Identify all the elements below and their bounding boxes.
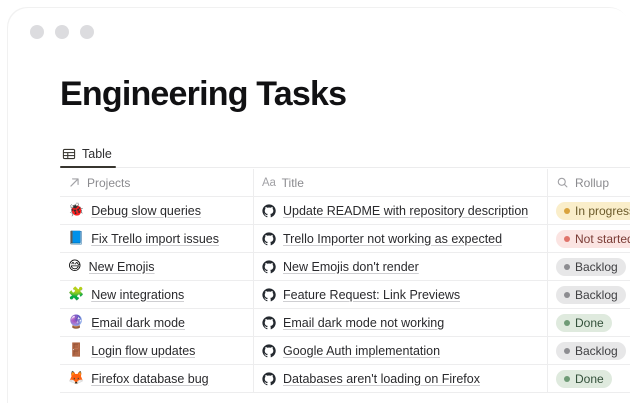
app-window: Engineering Tasks Table: [8, 8, 630, 404]
github-icon: [262, 204, 276, 218]
cell-title[interactable]: Trello Importer not working as expected: [254, 225, 548, 252]
project-emoji-icon: 🚪: [68, 344, 84, 357]
cell-rollup[interactable]: Not started: [548, 225, 630, 252]
status-badge: Backlog: [556, 286, 626, 304]
tab-bar-baseline: [60, 167, 630, 168]
relation-arrow-icon: [68, 176, 81, 189]
project-emoji-icon: 🦊: [68, 372, 84, 385]
status-badge: Backlog: [556, 258, 626, 276]
column-header-rollup-label: Rollup: [575, 176, 609, 190]
table-row: 🔮 Email dark mode Email dark mode not wo…: [60, 309, 630, 337]
view-tab-bar: Table: [60, 140, 630, 168]
status-label: Not started: [575, 232, 630, 246]
page-title: Engineering Tasks: [60, 74, 346, 115]
cell-project[interactable]: 🦊 Firefox database bug: [60, 365, 254, 392]
status-label: In progress: [575, 204, 630, 218]
tasks-table: Projects Aa Title Rollup 🐞 Debug slow qu…: [60, 169, 630, 393]
cell-rollup[interactable]: Done: [548, 365, 630, 392]
cell-rollup[interactable]: Backlog: [548, 253, 630, 280]
cell-title[interactable]: Feature Request: Link Previews: [254, 281, 548, 308]
cell-project[interactable]: 🐞 Debug slow queries: [60, 197, 254, 224]
title-link[interactable]: Databases aren't loading on Firefox: [283, 372, 480, 386]
window-close-dot[interactable]: [30, 25, 44, 39]
status-dot-icon: [564, 236, 570, 242]
project-emoji-icon: 😅: [68, 260, 82, 273]
github-icon: [262, 288, 276, 302]
title-link[interactable]: Feature Request: Link Previews: [283, 288, 460, 302]
table-row: 📘 Fix Trello import issues Trello Import…: [60, 225, 630, 253]
cell-rollup[interactable]: Done: [548, 309, 630, 336]
status-label: Backlog: [575, 344, 618, 358]
window-maximize-dot[interactable]: [80, 25, 94, 39]
table-header-row: Projects Aa Title Rollup: [60, 169, 630, 197]
cell-title[interactable]: Google Auth implementation: [254, 337, 548, 364]
status-badge: Done: [556, 314, 612, 332]
title-link[interactable]: Update README with repository descriptio…: [283, 204, 528, 218]
status-dot-icon: [564, 292, 570, 298]
project-emoji-icon: 📘: [68, 232, 84, 245]
column-header-title[interactable]: Aa Title: [254, 169, 548, 196]
tab-active-underline: [60, 166, 116, 168]
status-badge: Done: [556, 370, 612, 388]
window-titlebar: [8, 8, 630, 56]
status-badge: In progress: [556, 202, 630, 220]
table-row: 🐞 Debug slow queries Update README with …: [60, 197, 630, 225]
cell-rollup[interactable]: Backlog: [548, 281, 630, 308]
project-emoji-icon: 🐞: [68, 204, 84, 217]
status-label: Done: [575, 316, 604, 330]
project-link[interactable]: Email dark mode: [91, 316, 185, 330]
cell-rollup[interactable]: Backlog: [548, 337, 630, 364]
status-dot-icon: [564, 348, 570, 354]
column-header-projects-label: Projects: [87, 176, 130, 190]
title-link[interactable]: New Emojis don't render: [283, 260, 419, 274]
project-link[interactable]: Firefox database bug: [91, 372, 208, 386]
cell-project[interactable]: 😅 New Emojis: [60, 253, 254, 280]
table-icon: [62, 147, 76, 161]
project-emoji-icon: 🔮: [68, 316, 84, 329]
status-label: Backlog: [575, 260, 618, 274]
title-link[interactable]: Email dark mode not working: [283, 316, 444, 330]
project-link[interactable]: New integrations: [91, 288, 184, 302]
project-link[interactable]: New Emojis: [89, 260, 155, 274]
project-emoji-icon: 🧩: [68, 288, 84, 301]
github-icon: [262, 316, 276, 330]
cell-project[interactable]: 🚪 Login flow updates: [60, 337, 254, 364]
project-link[interactable]: Login flow updates: [91, 344, 195, 358]
project-link[interactable]: Debug slow queries: [91, 204, 201, 218]
cell-title[interactable]: Databases aren't loading on Firefox: [254, 365, 548, 392]
search-icon: [556, 176, 569, 189]
window-minimize-dot[interactable]: [55, 25, 69, 39]
text-aa-icon: Aa: [262, 177, 276, 189]
table-row: 🚪 Login flow updates Google Auth impleme…: [60, 337, 630, 365]
github-icon: [262, 372, 276, 386]
github-icon: [262, 344, 276, 358]
table-row: 😅 New Emojis New Emojis don't render Bac…: [60, 253, 630, 281]
tab-table[interactable]: Table: [60, 140, 116, 167]
status-dot-icon: [564, 320, 570, 326]
status-dot-icon: [564, 208, 570, 214]
cell-rollup[interactable]: In progress: [548, 197, 630, 224]
cell-project[interactable]: 📘 Fix Trello import issues: [60, 225, 254, 252]
status-dot-icon: [564, 376, 570, 382]
column-header-rollup[interactable]: Rollup: [548, 169, 630, 196]
status-badge: Not started: [556, 230, 630, 248]
cell-project[interactable]: 🔮 Email dark mode: [60, 309, 254, 336]
cell-title[interactable]: Update README with repository descriptio…: [254, 197, 548, 224]
title-link[interactable]: Trello Importer not working as expected: [283, 232, 502, 246]
title-link[interactable]: Google Auth implementation: [283, 344, 440, 358]
table-row: 🧩 New integrations Feature Request: Link…: [60, 281, 630, 309]
tab-table-label: Table: [82, 147, 112, 161]
status-badge: Backlog: [556, 342, 626, 360]
column-header-projects[interactable]: Projects: [60, 169, 254, 196]
status-dot-icon: [564, 264, 570, 270]
status-label: Done: [575, 372, 604, 386]
table-row: 🦊 Firefox database bug Databases aren't …: [60, 365, 630, 393]
cell-title[interactable]: New Emojis don't render: [254, 253, 548, 280]
github-icon: [262, 260, 276, 274]
project-link[interactable]: Fix Trello import issues: [91, 232, 219, 246]
status-label: Backlog: [575, 288, 618, 302]
cell-title[interactable]: Email dark mode not working: [254, 309, 548, 336]
cell-project[interactable]: 🧩 New integrations: [60, 281, 254, 308]
github-icon: [262, 232, 276, 246]
column-header-title-label: Title: [282, 176, 304, 190]
